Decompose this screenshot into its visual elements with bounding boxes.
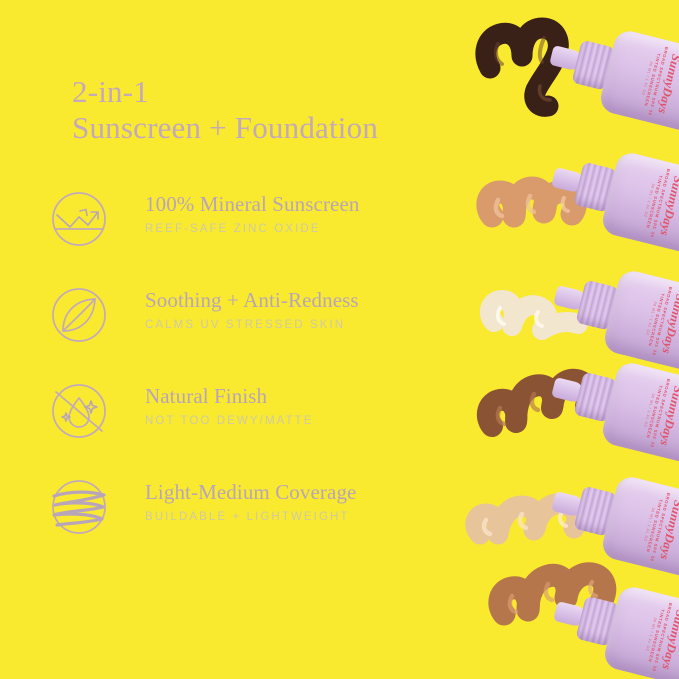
feature-subtitle: BUILDABLE + LIGHTWEIGHT: [145, 511, 356, 523]
feature-title: Light-Medium Coverage: [145, 480, 356, 505]
feature-subtitle: REEF-SAFE ZINC OXIDE: [145, 223, 359, 235]
no-dewy-droplet-icon: [50, 382, 108, 440]
feature-subtitle: CALMS UV STRESSED SKIN: [145, 319, 359, 331]
headline-line-1: 2-in-1: [72, 74, 492, 110]
feature-list: 100% Mineral Sunscreen REEF-SAFE ZINC OX…: [50, 188, 470, 572]
page-title: 2-in-1 Sunscreen + Foundation: [72, 74, 492, 146]
feature-subtitle: NOT TOO DEWY/MATTE: [145, 415, 314, 427]
feature-item-soothing: Soothing + Anti-Redness CALMS UV STRESSE…: [50, 284, 470, 380]
feature-item-coverage: Light-Medium Coverage BUILDABLE + LIGHTW…: [50, 476, 470, 572]
tube-label: SunnyDays BROAD SPECTRUM SPF 30 TINTED S…: [600, 150, 679, 258]
feature-title: Soothing + Anti-Redness: [145, 288, 359, 313]
leaf-icon: [50, 286, 108, 344]
feature-title: Natural Finish: [145, 384, 314, 409]
tube-body: SunnyDays BROAD SPECTRUM SPF 30 TINTED S…: [598, 28, 679, 136]
tube-body: SunnyDays BROAD SPECTRUM SPF 30 TINTED S…: [600, 150, 679, 258]
tube-label: SunnyDays BROAD SPECTRUM SPF 30 TINTED S…: [598, 28, 679, 136]
feature-item-mineral-sunscreen: 100% Mineral Sunscreen REEF-SAFE ZINC OX…: [50, 188, 470, 284]
headline-line-2: Sunscreen + Foundation: [72, 110, 492, 146]
sun-rays-deflect-icon: [50, 190, 108, 248]
product-marketing-banner: 2-in-1 Sunscreen + Foundation 100% Miner…: [0, 0, 679, 679]
feature-item-natural-finish: Natural Finish NOT TOO DEWY/MATTE: [50, 380, 470, 476]
feature-title: 100% Mineral Sunscreen: [145, 192, 359, 217]
coverage-swatch-icon: [50, 478, 108, 536]
